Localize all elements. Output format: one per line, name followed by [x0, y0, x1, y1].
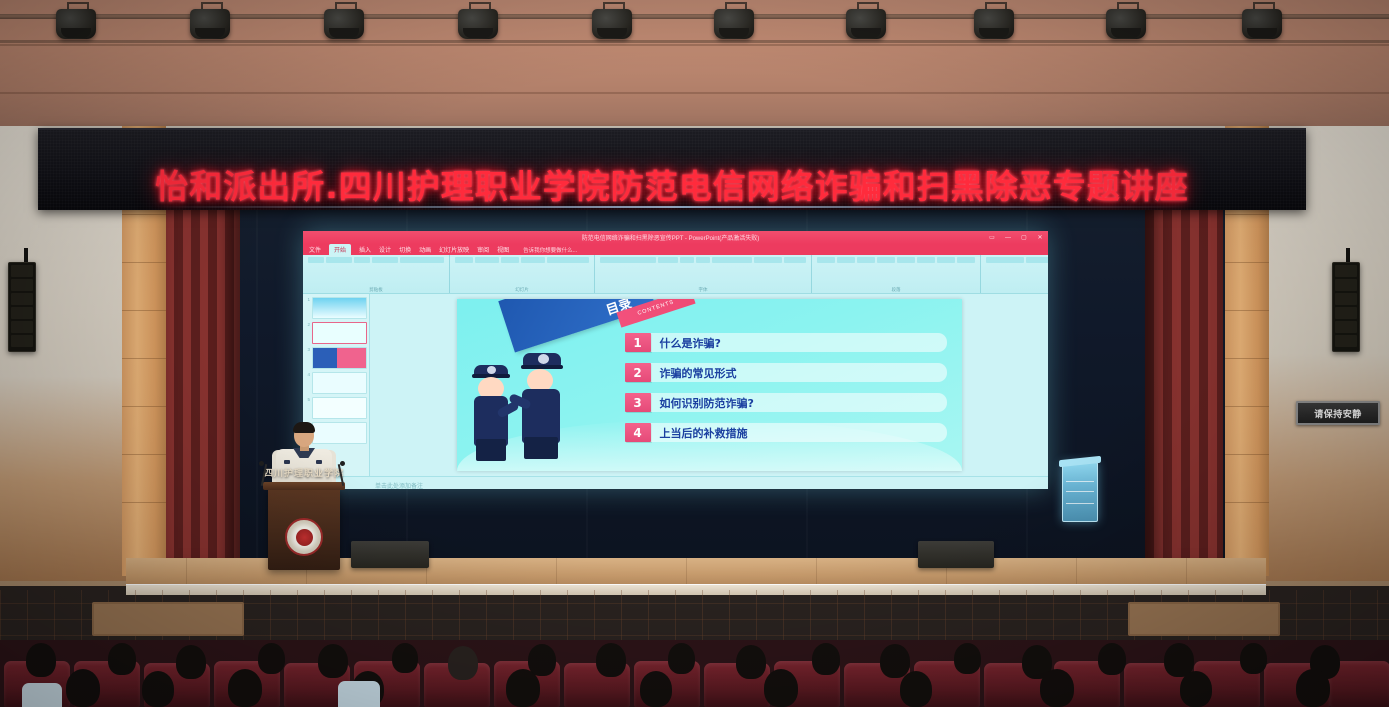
agenda-item[interactable]: 2 诈骗的常见形式 — [625, 363, 947, 382]
tab-file[interactable]: 文件 — [309, 245, 321, 254]
podium-top — [263, 482, 345, 490]
quiet-sign: 请保持安静 — [1296, 401, 1380, 425]
audience-head — [448, 646, 478, 680]
group-label-paragraph: 段落 — [817, 287, 975, 293]
notes-placeholder: 单击此处添加备注 — [375, 481, 423, 490]
thumbnail-number: 1 — [305, 297, 310, 302]
audience-seating — [0, 640, 1389, 707]
audience-person — [338, 681, 380, 707]
slide-thumbnail-selected[interactable]: 2 — [305, 322, 367, 344]
agenda-number: 4 — [625, 423, 651, 442]
cartoon-policewoman-icon — [469, 363, 515, 459]
ribbon-tabs: 文件 开始 插入 设计 切换 动画 幻灯片放映 审阅 视图 告诉我你想要做什么.… — [303, 244, 1048, 255]
ribbon-display-icon[interactable]: ▭ — [984, 234, 1000, 241]
tab-insert[interactable]: 插入 — [359, 245, 371, 254]
audience-head — [1296, 669, 1330, 707]
audience-head — [1040, 669, 1074, 707]
thumbnail-number: 2 — [305, 322, 310, 327]
audience-head — [108, 643, 136, 675]
stage-light-icon — [322, 2, 366, 42]
stage-curtain-right — [1145, 150, 1223, 570]
stage-light-icon — [188, 2, 232, 42]
cartoon-policeman-icon — [515, 353, 569, 459]
tab-view[interactable]: 视图 — [497, 245, 509, 254]
side-lectern — [1062, 462, 1098, 522]
ribbon-group-clipboard: 剪贴板 — [303, 255, 450, 293]
ceiling — [0, 0, 1389, 128]
audience-head — [812, 643, 840, 675]
document-title: 防范电信网络诈骗和扫黑除恶宣传PPT - PowerPoint(产品激活失败) — [357, 233, 984, 242]
audience-head — [176, 645, 206, 679]
audience-person — [22, 683, 62, 707]
ribbon: 剪贴板 幻灯片 字体 段落 — [303, 255, 1048, 294]
tab-review[interactable]: 审阅 — [477, 245, 489, 254]
stage-curtain-left — [166, 150, 240, 570]
audience-head — [880, 644, 910, 678]
powerpoint-titlebar: 防范电信网络诈骗和扫黑除恶宣传PPT - PowerPoint(产品激活失败) … — [303, 231, 1048, 244]
minimize-icon[interactable]: — — [1000, 235, 1016, 241]
slide-thumbnail[interactable]: 3 — [305, 347, 367, 369]
agenda-text: 如何识别防范诈骗? — [651, 393, 947, 412]
cartoon-police-illustration — [469, 351, 587, 459]
audience-head — [392, 643, 418, 673]
stage-light-icon — [712, 2, 756, 42]
line-array-speaker-right — [1332, 262, 1360, 352]
stage-light-icon — [972, 2, 1016, 42]
close-icon[interactable]: ✕ — [1032, 234, 1048, 241]
ribbon-group-paragraph: 段落 — [812, 255, 981, 293]
audience-head — [1180, 671, 1212, 707]
microphone-icon — [259, 461, 264, 466]
projection-screen: 防范电信网络诈骗和扫黑除恶宣传PPT - PowerPoint(产品激活失败) … — [303, 231, 1048, 489]
tab-transitions[interactable]: 切换 — [399, 245, 411, 254]
thumbnail-number: 5 — [305, 397, 310, 402]
group-label-slides: 幻灯片 — [455, 287, 589, 293]
podium-label: 四川护理职业学院 — [238, 466, 370, 479]
agenda-text: 上当后的补救措施 — [651, 423, 947, 442]
notes-pane[interactable]: 单击此处添加备注 — [303, 476, 1048, 489]
audience-head — [26, 643, 56, 677]
maximize-icon[interactable]: ▢ — [1016, 234, 1032, 241]
stage-light-icon — [54, 2, 98, 42]
agenda-number: 1 — [625, 333, 651, 352]
microphone-icon — [340, 461, 345, 466]
audience-head — [318, 644, 348, 678]
agenda-number: 3 — [625, 393, 651, 412]
led-banner-underline — [158, 206, 1188, 208]
quiet-sign-text: 请保持安静 — [1314, 407, 1362, 420]
group-label-drawing: 绘图 — [986, 287, 1048, 293]
tab-home[interactable]: 开始 — [329, 244, 351, 255]
agenda-item[interactable]: 1 什么是诈骗? — [625, 333, 947, 352]
audience-head — [954, 643, 981, 674]
current-slide[interactable]: 目录 CONTENTS — [457, 299, 962, 471]
tab-design[interactable]: 设计 — [379, 245, 391, 254]
ribbon-group-font: 字体 — [595, 255, 812, 293]
agenda-item[interactable]: 3 如何识别防范诈骗? — [625, 393, 947, 412]
stage-light-icon — [456, 2, 500, 42]
agenda-item[interactable]: 4 上当后的补救措施 — [625, 423, 947, 442]
audience-head — [640, 671, 672, 707]
agenda-text: 诈骗的常见形式 — [651, 363, 947, 382]
audience-head — [1098, 643, 1126, 675]
slide-thumbnail[interactable]: 1 — [305, 297, 367, 319]
stage-light-icon — [844, 2, 888, 42]
group-label-clipboard: 剪贴板 — [308, 287, 444, 293]
ribbon-group-drawing: 绘图 — [981, 255, 1048, 293]
slide-thumbnail[interactable]: 5 — [305, 397, 367, 419]
slide-editing-area[interactable]: 目录 CONTENTS — [370, 294, 1048, 476]
slide-thumbnail[interactable]: 4 — [305, 372, 367, 394]
tab-slideshow[interactable]: 幻灯片放映 — [439, 245, 469, 254]
audience-head — [1240, 643, 1267, 674]
thumbnail-number: 4 — [305, 372, 310, 377]
stage-light-icon — [590, 2, 634, 42]
audience-head — [736, 645, 766, 679]
stage-monitor-speaker-right — [918, 541, 994, 568]
group-label-font: 字体 — [600, 287, 806, 293]
tell-me-search-input[interactable]: 告诉我你想要做什么... — [523, 246, 577, 254]
led-banner: 怡和派出所.四川护理职业学院防范电信网络诈骗和扫黑除恶专题讲座 — [38, 128, 1306, 210]
audience-head — [668, 643, 695, 674]
stage-light-icon — [1104, 2, 1148, 42]
school-emblem-icon — [285, 518, 323, 556]
led-banner-text: 怡和派出所.四川护理职业学院防范电信网络诈骗和扫黑除恶专题讲座 — [38, 160, 1306, 208]
auditorium-photo: 怡和派出所.四川护理职业学院防范电信网络诈骗和扫黑除恶专题讲座 防范电信网络诈骗… — [0, 0, 1389, 707]
audience-head — [228, 669, 262, 707]
wall-niche — [92, 602, 244, 636]
agenda-list: 1 什么是诈骗? 2 诈骗的常见形式 3 如何识别防范诈骗? 4 — [625, 333, 947, 453]
tab-animations[interactable]: 动画 — [419, 245, 431, 254]
audience-head — [258, 643, 285, 674]
audience-head — [506, 669, 540, 707]
agenda-text: 什么是诈骗? — [651, 333, 947, 352]
line-array-speaker-left — [8, 262, 36, 352]
audience-head — [900, 671, 932, 707]
audience-head — [764, 669, 798, 707]
audience-head — [596, 643, 626, 677]
audience-head — [66, 669, 100, 707]
stage-monitor-speaker-left — [351, 541, 429, 568]
wall-niche — [1128, 602, 1280, 636]
audience-head — [142, 671, 174, 707]
ribbon-group-slides: 幻灯片 — [450, 255, 595, 293]
agenda-number: 2 — [625, 363, 651, 382]
podium: 四川护理职业学院 — [268, 488, 340, 570]
stage-light-icon — [1240, 2, 1284, 42]
powerpoint-workspace: 1 2 3 4 5 — [303, 294, 1048, 476]
thumbnail-number: 3 — [305, 347, 310, 352]
